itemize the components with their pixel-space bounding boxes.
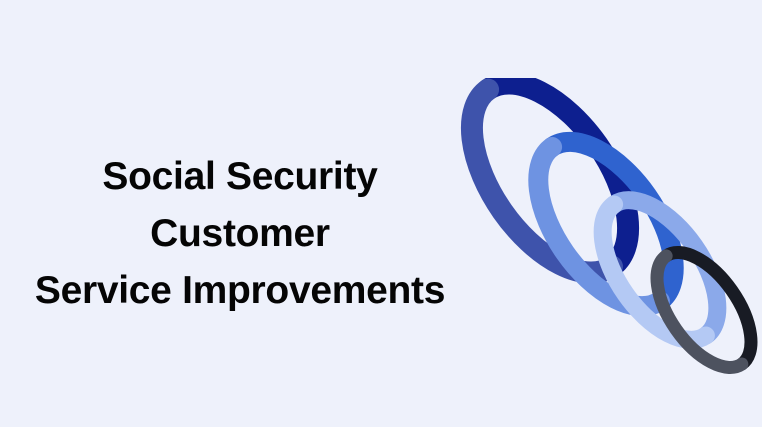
page-title: Social Security Customer Service Improve…: [0, 148, 480, 319]
title-line-3: Service Improvements: [0, 262, 480, 319]
title-line-1: Social Security: [0, 148, 480, 205]
slide-canvas: Social Security Customer Service Improve…: [0, 0, 762, 427]
title-line-2: Customer: [0, 205, 480, 262]
